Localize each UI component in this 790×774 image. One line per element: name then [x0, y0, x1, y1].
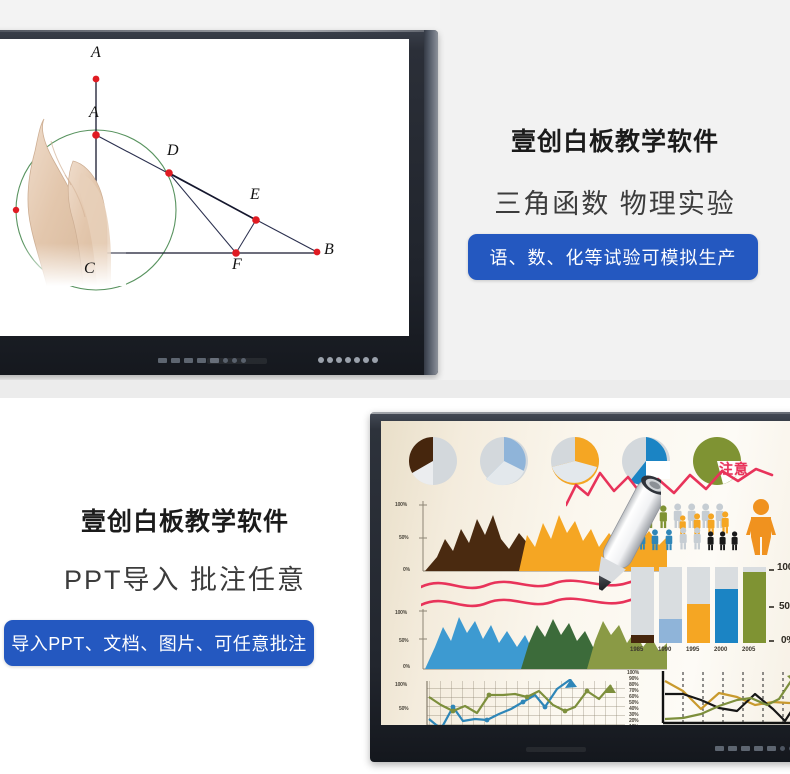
pie-chart-1 [409, 437, 457, 485]
bar-year-label: 2000 [714, 647, 727, 653]
dashed-axis-label-10: 10% [629, 724, 638, 725]
control-button[interactable] [715, 746, 724, 751]
promo-page: A A D E B F C [0, 0, 790, 774]
bar-1990 [659, 567, 682, 643]
geo-label-f: F [232, 257, 242, 273]
section1-subtitle: 三角函数 物理实验 [440, 182, 790, 221]
geo-label-d: D [167, 143, 179, 159]
whiteboard-charts[interactable]: 注意 100% 50% 0% [370, 412, 790, 762]
geo-label-a-top: A [91, 45, 101, 61]
control-button[interactable] [728, 746, 737, 751]
pictogram-highlight-person [746, 499, 776, 555]
control-button[interactable] [780, 746, 785, 751]
pictogram-group-black [708, 531, 738, 550]
control-button[interactable] [197, 358, 206, 363]
geo-label-e: E [250, 187, 260, 203]
section2-text-block: 壹创白板教学软件 PPT导入 批注任意 导入PPT、文档、图片、可任意批注 [0, 398, 370, 774]
bar-axis-label-100: 100% [777, 562, 790, 573]
axis-label-100-top: 100% [395, 502, 407, 508]
section1-feature-badge[interactable]: 语、数、化等试验可模拟生产 [468, 234, 758, 280]
bar-1995 [687, 567, 710, 643]
axis-label-0-bottom: 0% [403, 664, 410, 670]
section1-text-block: 壹创白板教学软件 三角函数 物理实验 语、数、化等试验可模拟生产 [440, 0, 790, 380]
pie-chart-2 [480, 437, 528, 485]
bar-2000 [715, 567, 738, 643]
led-indicator [318, 357, 324, 363]
bar-year-label: 1995 [686, 647, 699, 653]
led-indicator [327, 357, 333, 363]
dashed-line-chart [639, 669, 790, 725]
geometry-diagram [0, 39, 409, 336]
section-charts: 壹创白板教学软件 PPT导入 批注任意 导入PPT、文档、图片、可任意批注 [0, 398, 790, 774]
whiteboard-screen[interactable]: 注意 100% 50% 0% [381, 421, 790, 725]
whiteboard-screen[interactable]: A A D E B F C [0, 39, 409, 336]
led-indicator [363, 357, 369, 363]
grid-line-chart [407, 679, 629, 725]
whiteboard-geometry[interactable]: A A D E B F C [0, 30, 438, 375]
bar-2005 [743, 567, 766, 643]
marker-pen-icon[interactable] [599, 467, 661, 597]
gridline-axis-label-100: 100% [395, 682, 407, 688]
section2-feature-badge[interactable]: 导入PPT、文档、图片、可任意批注 [4, 620, 314, 666]
geo-label-a-mid: A [89, 105, 99, 121]
led-indicator [336, 357, 342, 363]
axis-label-50-bottom: 50% [399, 638, 408, 644]
control-button[interactable] [754, 746, 763, 751]
led-indicator [345, 357, 351, 363]
axis-label-50-top: 50% [399, 535, 408, 541]
control-button[interactable] [184, 358, 193, 363]
bar-year-label: 1985 [630, 647, 643, 653]
control-button[interactable] [741, 746, 750, 751]
pictogram-group-gray-2 [680, 527, 701, 549]
section-divider [0, 380, 790, 398]
whiteboard-control-buttons[interactable] [715, 746, 790, 751]
control-button[interactable] [171, 358, 180, 363]
section2-subtitle: PPT导入 批注任意 [0, 558, 370, 597]
led-indicator [372, 357, 378, 363]
control-button[interactable] [767, 746, 776, 751]
bar-year-label: 1990 [658, 647, 671, 653]
bar-year-label: 2005 [742, 647, 755, 653]
axis-label-100-bottom: 100% [395, 610, 407, 616]
bar-axis-label-50: 50% [779, 601, 790, 612]
annotation-text-attention: 注意 [719, 459, 749, 479]
control-button[interactable] [158, 358, 167, 363]
whiteboard-right-edge [424, 30, 438, 375]
brand-logo [526, 747, 586, 752]
section2-title: 壹创白板教学软件 [0, 502, 370, 538]
section1-title: 壹创白板教学软件 [440, 122, 790, 158]
geo-label-b: B [324, 242, 334, 258]
status-led-row [318, 357, 378, 363]
brand-logo [207, 358, 267, 364]
geo-label-c: C [84, 261, 95, 277]
gridline-axis-label-50: 50% [399, 706, 408, 712]
section-geometry: A A D E B F C [0, 0, 790, 380]
axis-label-0-top: 0% [403, 567, 410, 573]
bar-axis-label-0: 0% [781, 635, 790, 646]
led-indicator [354, 357, 360, 363]
